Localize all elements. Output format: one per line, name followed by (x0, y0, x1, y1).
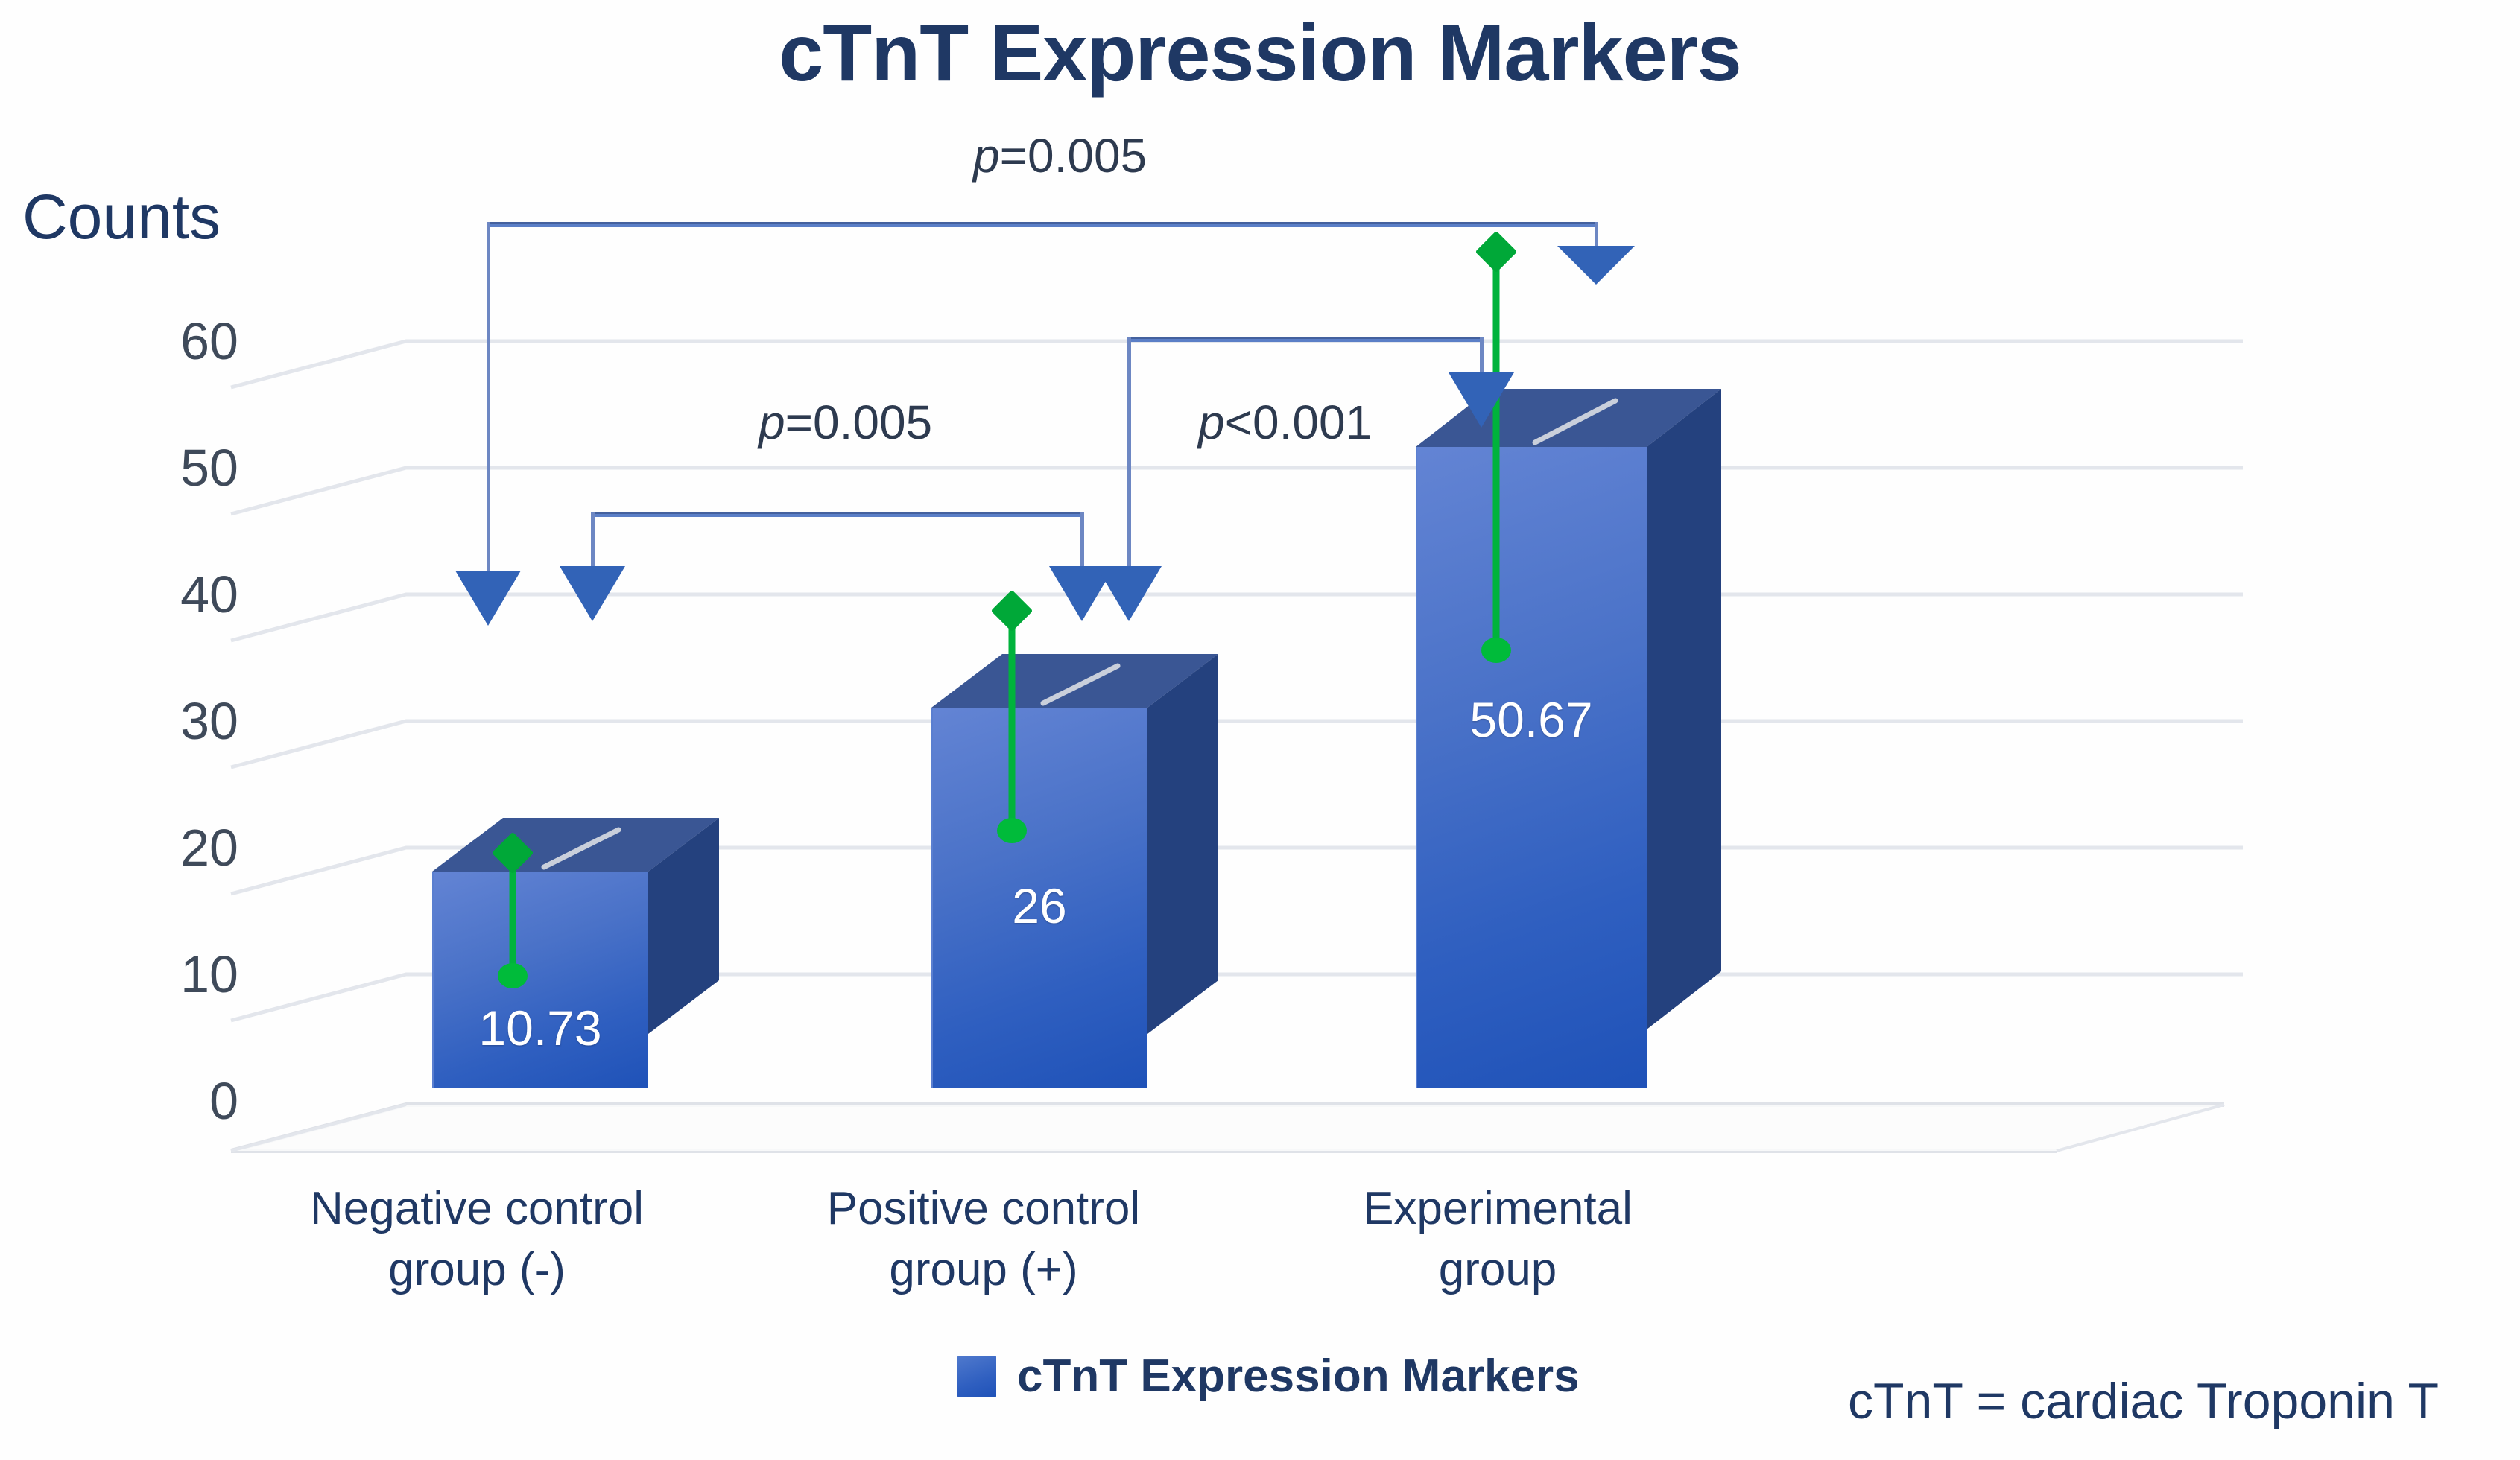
bar-front-face (1416, 447, 1647, 1088)
y-tick-40: 40 (89, 565, 238, 624)
bracket-mid-left-arrowhead (560, 566, 625, 621)
bracket-right-left-arrowhead (1096, 566, 1162, 621)
bar-value-label-3: 50.67 (1416, 691, 1647, 748)
y-tick-0: 0 (89, 1071, 238, 1131)
bracket-right-horizontal (1127, 337, 1484, 342)
p-symbol: p (1198, 396, 1225, 449)
bracket-top-left-arm (487, 222, 490, 587)
y-tick-50: 50 (89, 438, 238, 498)
chart-title: cTnT Expression Markers (0, 6, 2520, 99)
bracket-top-horizontal (487, 222, 1598, 227)
p-value-text: =0.005 (1000, 129, 1147, 182)
x-category-line-2: group (+) (790, 1240, 1177, 1301)
chart-footnote: cTnT = cardiac Troponin T (1848, 1372, 2439, 1430)
error-bar-positive-control (982, 596, 1042, 849)
bracket-right-left-arm (1127, 337, 1131, 583)
bar-value-label-1: 10.73 (432, 1000, 648, 1056)
error-bar-experimental (1466, 237, 1526, 669)
p-value-text: =0.005 (785, 396, 933, 449)
bracket-mid-horizontal (591, 512, 1083, 517)
y-tick-20: 20 (89, 818, 238, 877)
legend-color-swatch (957, 1356, 996, 1397)
x-category-experimental: Experimental group (1304, 1178, 1691, 1301)
x-category-line-1: Negative control (283, 1178, 671, 1240)
y-tick-60: 60 (89, 311, 238, 371)
x-category-line-1: Experimental (1304, 1178, 1691, 1240)
y-tick-30: 30 (89, 691, 238, 751)
x-category-line-2: group (1304, 1240, 1691, 1301)
legend-series-label: cTnT Expression Markers (1017, 1350, 1580, 1403)
chart-legend[interactable]: cTnT Expression Markers (957, 1350, 1580, 1403)
chart-canvas: cTnT Expression Markers Counts 60 50 40 … (0, 0, 2520, 1460)
p-value-label-neg-vs-pos: p=0.005 (759, 395, 932, 450)
bracket-top-left-arrowhead (455, 571, 521, 626)
p-value-label-neg-vs-exp: p=0.005 (973, 128, 1147, 183)
x-category-line-1: Positive control (790, 1178, 1177, 1240)
x-category-positive-control: Positive control group (+) (790, 1178, 1177, 1301)
p-value-label-pos-vs-exp: p<0.001 (1198, 395, 1372, 450)
bar-value-label-2: 26 (931, 877, 1147, 934)
p-symbol: p (973, 129, 1000, 182)
p-value-text: <0.001 (1225, 396, 1373, 449)
y-tick-10: 10 (89, 945, 238, 1004)
error-bar-negative-control (483, 838, 542, 994)
y-axis-title: Counts (22, 181, 221, 253)
p-symbol: p (759, 396, 785, 449)
x-category-line-2: group (-) (283, 1240, 671, 1301)
x-category-negative-control: Negative control group (-) (283, 1178, 671, 1301)
bracket-top-right-arrowhead (1557, 246, 1635, 285)
bar-experimental[interactable]: 50.67 (1416, 447, 1647, 1088)
bracket-right-right-arrowhead (1449, 372, 1514, 428)
